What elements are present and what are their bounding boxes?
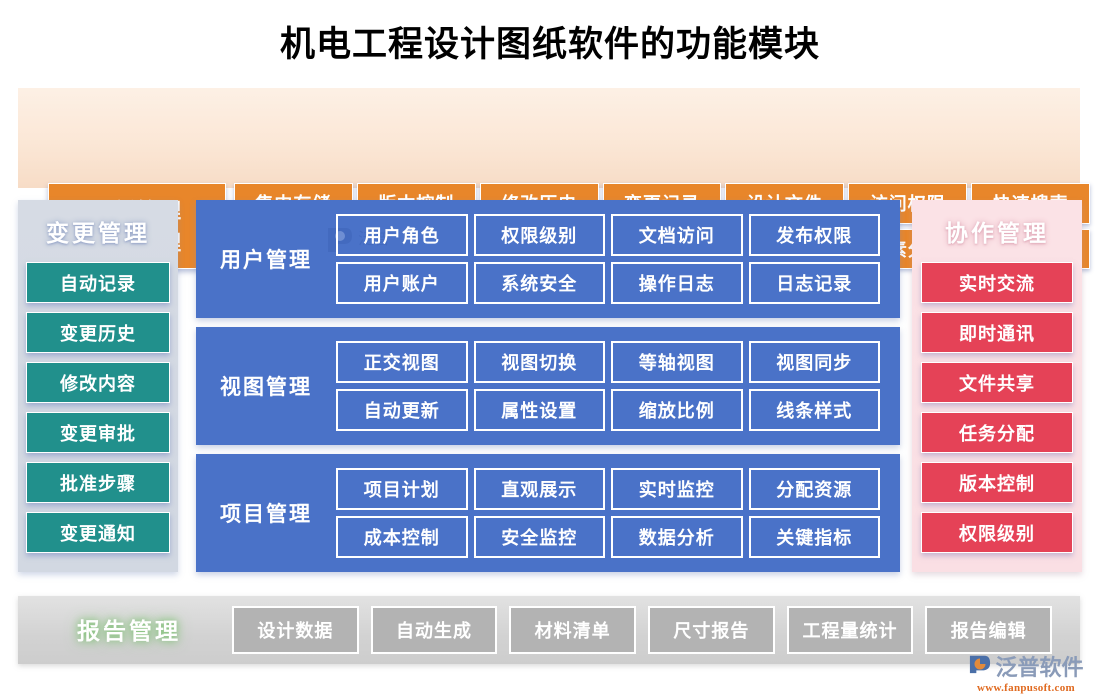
change-management-title: 变更管理: [18, 214, 178, 248]
chip-fenpeiziyuan[interactable]: 分配资源: [749, 468, 881, 510]
page-title: 机电工程设计图纸软件的功能模块: [0, 16, 1100, 67]
list-item-bianglishi[interactable]: 变更历史: [26, 312, 170, 353]
chip-shujufenxi[interactable]: 数据分析: [611, 516, 743, 558]
view-management-panel: 视图管理 正交视图 视图切换 等轴视图 视图同步 自动更新 属性设置 缩放比例 …: [196, 327, 900, 445]
drawing-management-band: 图纸管理 布局管理 集中存储 版本控制 修改历史 变更记录 设计文件 访问权限 …: [18, 88, 1080, 188]
chip-zhengjiaoshitu[interactable]: 正交视图: [336, 341, 468, 383]
collaboration-management-title: 协作管理: [912, 214, 1082, 248]
change-management-list: 自动记录 变更历史 修改内容 变更审批 批准步骤 变更通知: [26, 262, 170, 553]
project-management-row-2: 成本控制 安全监控 数据分析 关键指标: [336, 516, 880, 558]
chip-anquanjiankong[interactable]: 安全监控: [474, 516, 606, 558]
list-item-pizhunbuzhou[interactable]: 批准步骤: [26, 462, 170, 503]
list-item-xiugaineirong[interactable]: 修改内容: [26, 362, 170, 403]
chip-gongchengliangtongji[interactable]: 工程量统计: [787, 606, 914, 654]
list-item-biangentongzhi[interactable]: 变更通知: [26, 512, 170, 553]
collaboration-management-list: 实时交流 即时通讯 文件共享 任务分配 版本控制 权限级别: [921, 262, 1073, 553]
chip-xiangmujihua[interactable]: 项目计划: [336, 468, 468, 510]
view-management-grid: 正交视图 视图切换 等轴视图 视图同步 自动更新 属性设置 缩放比例 线条样式: [336, 341, 900, 431]
chip-rizhijilu[interactable]: 日志记录: [749, 262, 881, 304]
user-management-title: 用户管理: [196, 244, 336, 274]
chip-dengzhoushitu[interactable]: 等轴视图: [611, 341, 743, 383]
list-item-jishitongxun[interactable]: 即时通讯: [921, 312, 1073, 353]
list-item-shishijiaoliu[interactable]: 实时交流: [921, 262, 1073, 303]
chip-caozuorizhi[interactable]: 操作日志: [611, 262, 743, 304]
list-item-wenjiangongxiang[interactable]: 文件共享: [921, 362, 1073, 403]
user-management-row-2: 用户账户 系统安全 操作日志 日志记录: [336, 262, 880, 304]
list-item-zidongjilu[interactable]: 自动记录: [26, 262, 170, 303]
chip-shitutongbu[interactable]: 视图同步: [749, 341, 881, 383]
view-management-row-2: 自动更新 属性设置 缩放比例 线条样式: [336, 389, 880, 431]
brand-logo-url: www.fanpusoft.com: [977, 682, 1075, 694]
view-management-row-1: 正交视图 视图切换 等轴视图 视图同步: [336, 341, 880, 383]
report-management-list: 设计数据 自动生成 材料清单 尺寸报告 工程量统计 报告编辑: [232, 606, 1052, 654]
list-item-renwufenpei[interactable]: 任务分配: [921, 412, 1073, 453]
project-management-title: 项目管理: [196, 498, 336, 528]
chip-zhiguanzhanshi[interactable]: 直观展示: [474, 468, 606, 510]
report-management-band: 报告管理 设计数据 自动生成 材料清单 尺寸报告 工程量统计 报告编辑: [18, 596, 1080, 664]
brand-logo-name: 泛普软件: [995, 650, 1083, 682]
chip-shuxingshezhi[interactable]: 属性设置: [474, 389, 606, 431]
chip-quanxianjibie[interactable]: 权限级别: [474, 214, 606, 256]
infographic-root: 机电工程设计图纸软件的功能模块 图纸管理 布局管理 集中存储 版本控制 修改历史…: [0, 0, 1100, 700]
list-item-quanxianjibie[interactable]: 权限级别: [921, 512, 1073, 553]
brand-logo-top: 泛普软件: [968, 650, 1083, 682]
chip-shitu-qiehuan[interactable]: 视图切换: [474, 341, 606, 383]
chip-guanjianzhibiao[interactable]: 关键指标: [749, 516, 881, 558]
project-management-grid: 项目计划 直观展示 实时监控 分配资源 成本控制 安全监控 数据分析 关键指标: [336, 468, 900, 558]
view-management-title: 视图管理: [196, 371, 336, 401]
chip-shishijiankong[interactable]: 实时监控: [611, 468, 743, 510]
chip-shejishuju[interactable]: 设计数据: [232, 606, 359, 654]
chip-baogaobianji[interactable]: 报告编辑: [925, 606, 1052, 654]
project-management-panel: 项目管理 项目计划 直观展示 实时监控 分配资源 成本控制 安全监控 数据分析 …: [196, 454, 900, 572]
project-management-row-1: 项目计划 直观展示 实时监控 分配资源: [336, 468, 880, 510]
center-panels: 用户管理 泛普 用户角色 权限级别 文档访问 发布权限 用户账户 系统安全: [196, 200, 900, 572]
report-management-title: 报告管理: [44, 612, 214, 646]
fanpu-mark-icon: [968, 653, 992, 680]
chip-fabuquanxian[interactable]: 发布权限: [749, 214, 881, 256]
chip-wendangfangwen[interactable]: 文档访问: [611, 214, 743, 256]
user-management-row-1: 用户角色 权限级别 文档访问 发布权限: [336, 214, 880, 256]
user-management-grid: 用户角色 权限级别 文档访问 发布权限 用户账户 系统安全 操作日志 日志记录: [336, 214, 900, 304]
collaboration-management-panel: 协作管理 实时交流 即时通讯 文件共享 任务分配 版本控制 权限级别: [912, 200, 1082, 572]
list-item-biangenshenpi[interactable]: 变更审批: [26, 412, 170, 453]
chip-chengbenkongzhi[interactable]: 成本控制: [336, 516, 468, 558]
chip-zidongshengcheng[interactable]: 自动生成: [371, 606, 498, 654]
chip-cailiaoqingdan[interactable]: 材料清单: [509, 606, 636, 654]
chip-xitonganquan[interactable]: 系统安全: [474, 262, 606, 304]
chip-yonghujuese[interactable]: 用户角色: [336, 214, 468, 256]
chip-xiantiaoyangshi[interactable]: 线条样式: [749, 389, 881, 431]
chip-zidonggengxin[interactable]: 自动更新: [336, 389, 468, 431]
chip-yonghuzhanghu[interactable]: 用户账户: [336, 262, 468, 304]
user-management-panel: 用户管理 泛普 用户角色 权限级别 文档访问 发布权限 用户账户 系统安全: [196, 200, 900, 318]
chip-suofangbili[interactable]: 缩放比例: [611, 389, 743, 431]
chip-chicunbaogao[interactable]: 尺寸报告: [648, 606, 775, 654]
brand-logo[interactable]: 泛普软件 www.fanpusoft.com: [960, 650, 1092, 696]
list-item-banbenkongzhi[interactable]: 版本控制: [921, 462, 1073, 503]
change-management-panel: 变更管理 自动记录 变更历史 修改内容 变更审批 批准步骤 变更通知: [18, 200, 178, 572]
